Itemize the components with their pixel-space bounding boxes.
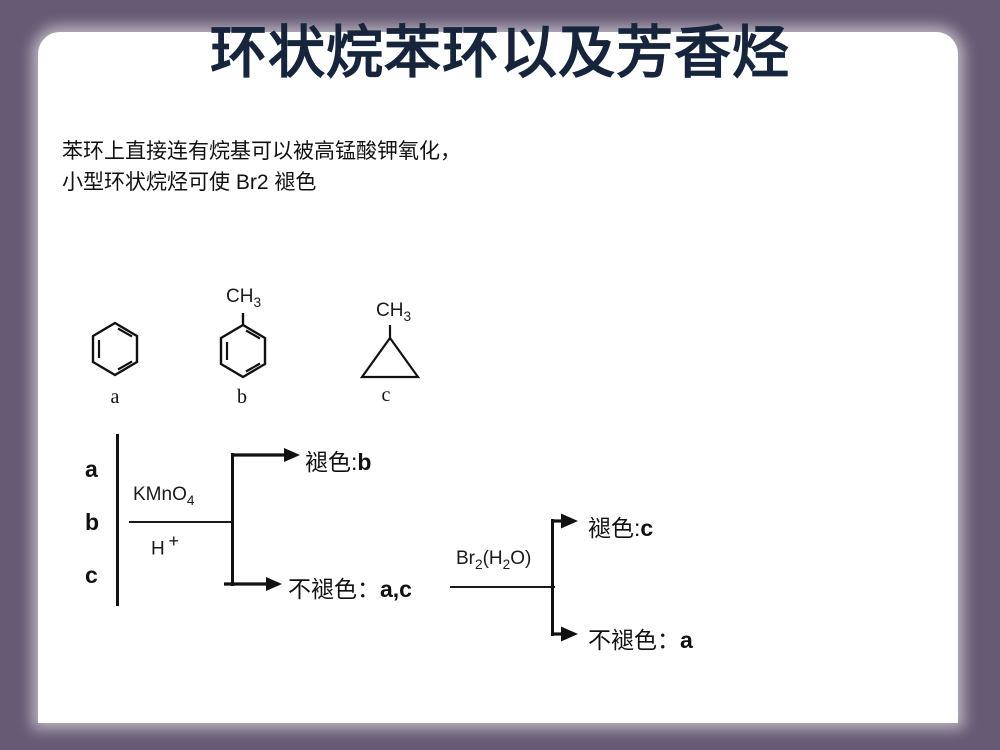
reaction2-output-1-prefix: 褪色: bbox=[588, 515, 640, 541]
reaction2-output-2: 不褪色：a bbox=[588, 621, 693, 655]
reaction2-output-2-species: a bbox=[680, 627, 693, 653]
reaction2-arrows bbox=[0, 0, 1000, 750]
reaction2-output-1-species: c bbox=[640, 515, 653, 541]
slide-root: 环状烷苯环以及芳香烃 苯环上直接连有烷基可以被高锰酸钾氧化， 小型环状烷烃可使 … bbox=[0, 0, 1000, 750]
reaction2-output-2-prefix: 不褪色： bbox=[588, 627, 680, 653]
reaction2-output-1: 褪色:c bbox=[588, 509, 653, 543]
